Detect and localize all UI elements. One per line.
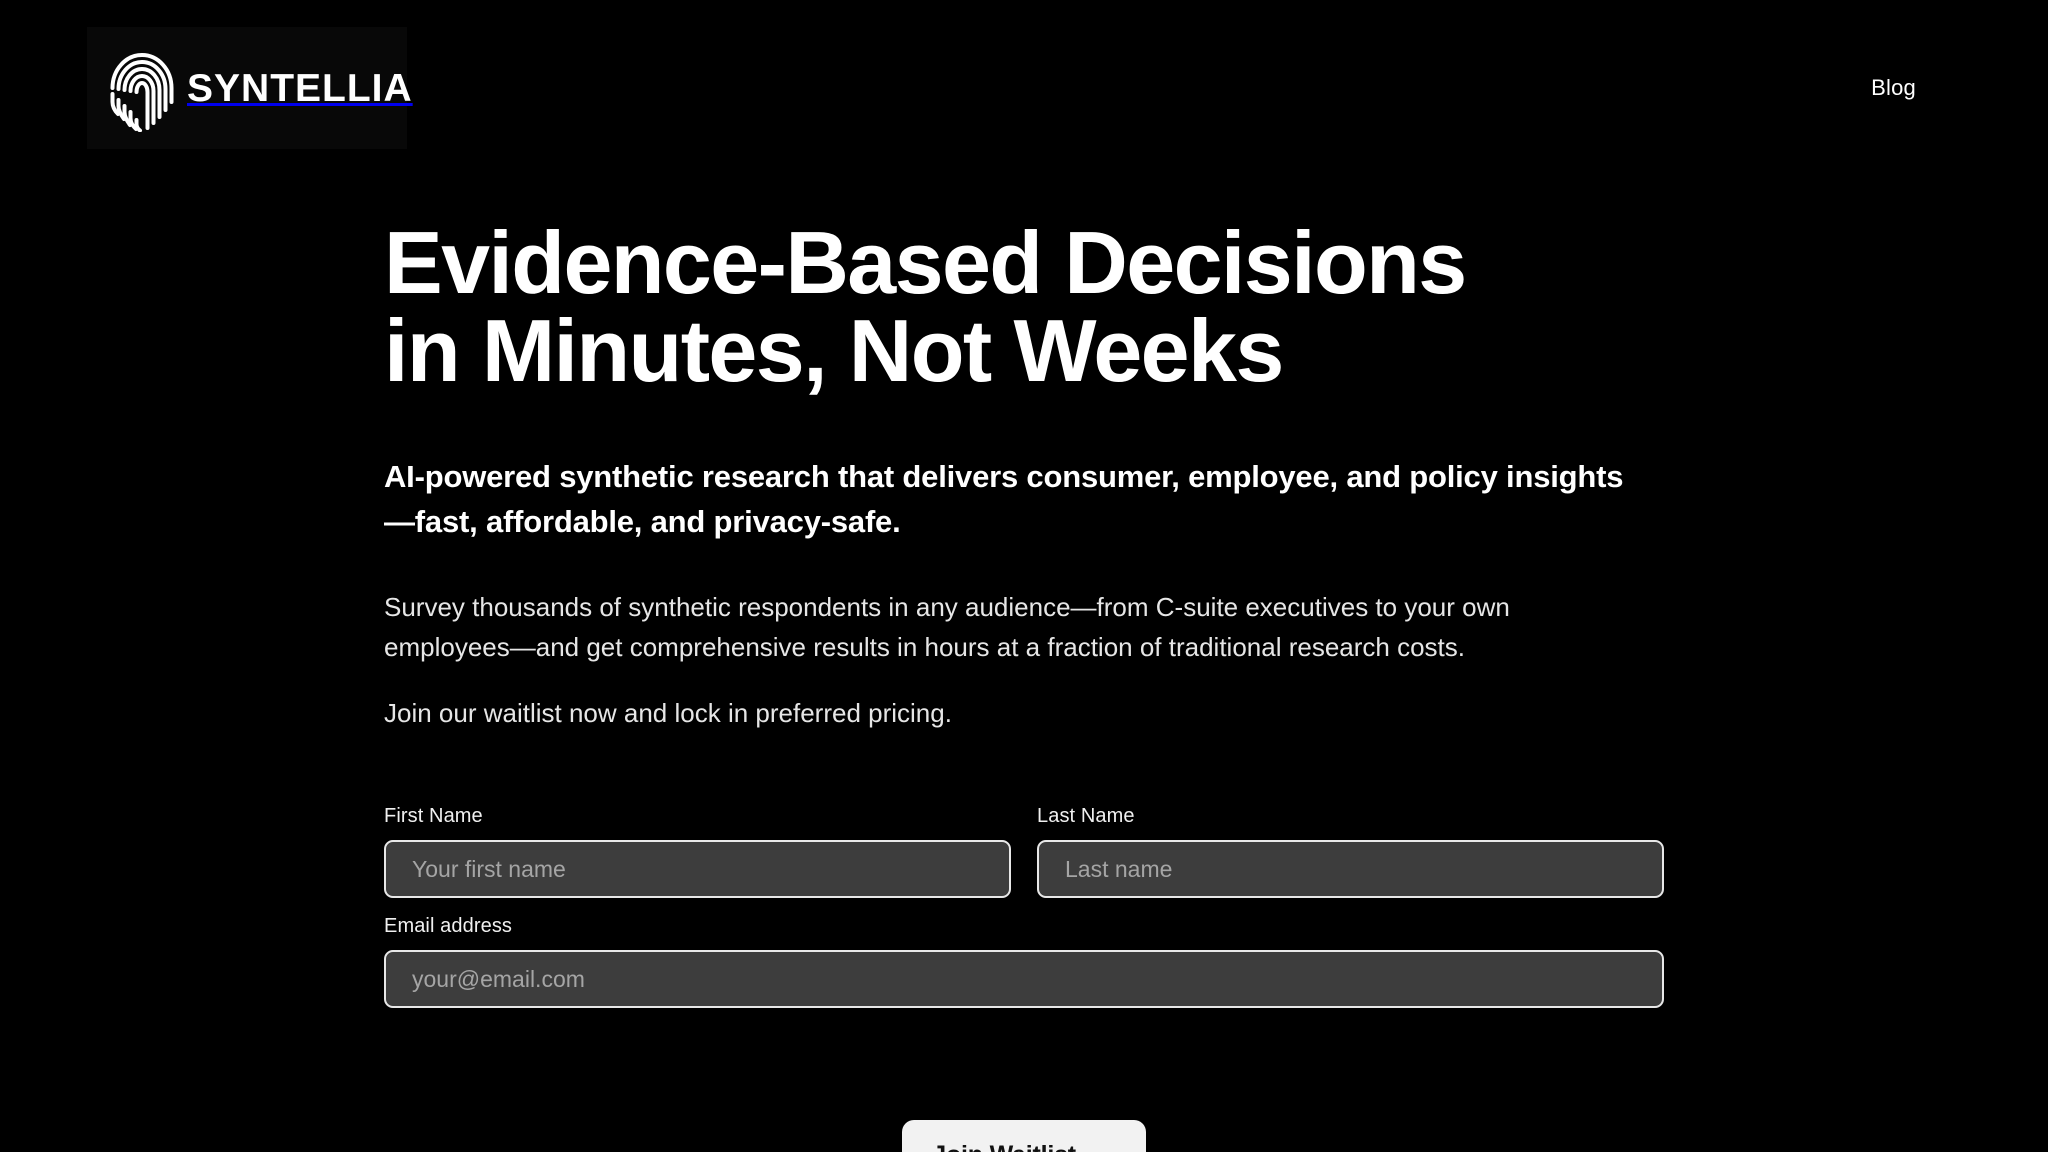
nav-link-blog[interactable]: Blog	[1871, 77, 1916, 99]
first-name-input[interactable]	[384, 840, 1011, 898]
landing-page: SYNTELLIA Blog Evidence-Based Decisions …	[0, 0, 2048, 1152]
primary-nav: Blog	[1871, 0, 2048, 176]
first-name-label: First Name	[384, 806, 1011, 826]
fingerprint-icon	[109, 44, 175, 132]
email-field-group: Email address	[384, 916, 1664, 1008]
brand-name: SYNTELLIA	[187, 69, 413, 108]
page-title: Evidence-Based Decisions in Minutes, Not…	[384, 219, 1514, 395]
email-input[interactable]	[384, 950, 1664, 1008]
last-name-input[interactable]	[1037, 840, 1664, 898]
last-name-label: Last Name	[1037, 806, 1664, 826]
hero-subtitle: AI-powered synthetic research that deliv…	[384, 455, 1639, 545]
hero-paragraph-2: Join our waitlist now and lock in prefer…	[384, 693, 1629, 733]
waitlist-form: First Name Last Name Email address	[384, 806, 1664, 1008]
join-waitlist-label: Join Waitlist	[932, 1141, 1076, 1152]
brand-logo-link[interactable]: SYNTELLIA	[87, 27, 407, 149]
last-name-field-group: Last Name	[1037, 806, 1664, 898]
submit-button-row: Join Waitlist →	[0, 1120, 2048, 1152]
hero-paragraph-1: Survey thousands of synthetic respondent…	[384, 587, 1629, 668]
name-fields-row: First Name Last Name	[384, 806, 1664, 898]
first-name-field-group: First Name	[384, 806, 1011, 898]
join-waitlist-button[interactable]: Join Waitlist →	[902, 1120, 1146, 1152]
site-header: SYNTELLIA Blog	[0, 0, 2048, 176]
email-label: Email address	[384, 916, 1664, 936]
arrow-right-icon: →	[1092, 1143, 1116, 1152]
hero-section: Evidence-Based Decisions in Minutes, Not…	[384, 219, 1674, 734]
